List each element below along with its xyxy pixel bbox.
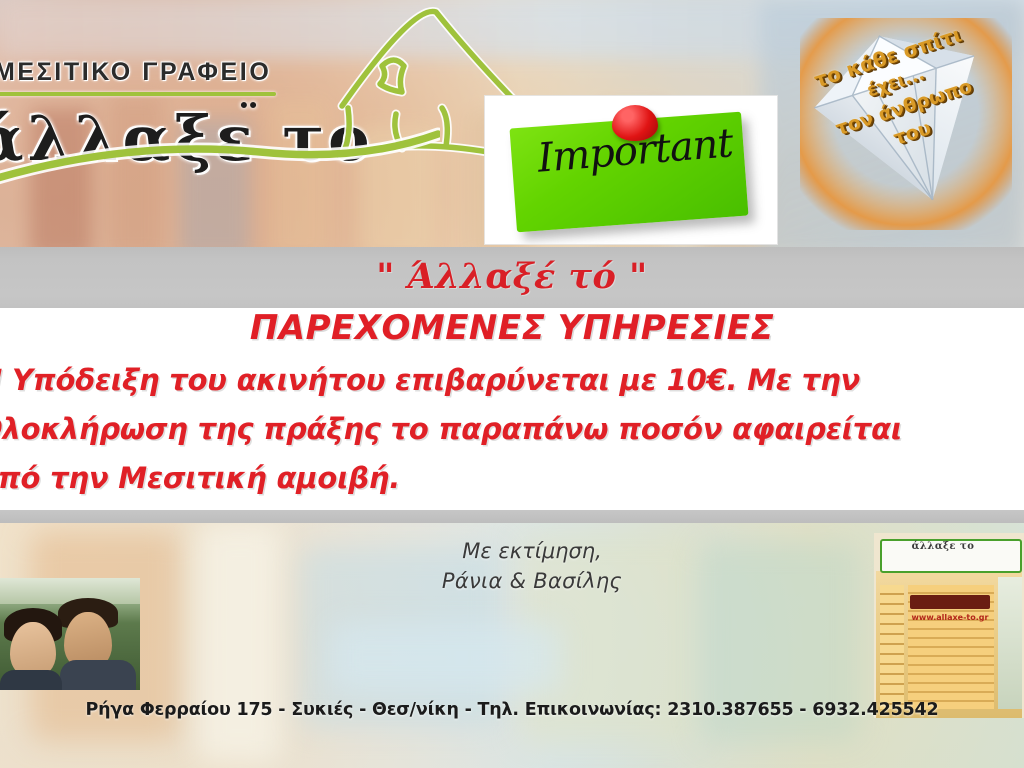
body-line-3: από την Μεσιτική αμοιβή. [0,454,1018,503]
diamond-icon [800,18,1012,230]
green-swoosh-icon [0,118,440,208]
bottom-gray-strip [0,510,1024,523]
services-body-text: Η Υπόδειξη του ακινήτου επιβαρύνεται με … [0,356,1018,503]
body-line-1: Η Υπόδειξη του ακινήτου επιβαρύνεται με … [0,356,1018,405]
brand-quote-title: " Άλλαξέ τό " [0,256,1024,297]
signature-line-2: Ράνια & Βασίλης [382,566,682,596]
logo-kicker-text: ΜΕΣΙΤΙΚΟ ΓΡΑΦΕΙΟ [0,58,271,87]
red-pushpin-icon [612,105,658,141]
shop-sign-text: άλλαξε το [874,541,1012,552]
couple-photo [0,578,140,690]
storefront-photo: www.allaxe-to.gr άλλαξε το [874,533,1024,718]
logo-underline [0,92,276,96]
shop-website-url: www.allaxe-to.gr [902,613,998,622]
body-line-2: Ολοκλήρωση της πράξης το παραπάνω ποσόν … [0,405,1018,454]
contact-info: Ρήγα Φερραίου 175 - Συκιές - Θεσ/νίκη - … [0,700,1024,720]
flyer-page: ΜΕΣΙΤΙΚΟ ΓΡΑΦΕΙΟ " άλλαξε το ¨ Important [0,0,1024,768]
signature-line-1: Με εκτίμηση, [382,536,682,566]
services-heading: ΠΑΡΕΧΟΜΕΝΕΣ ΥΠΗΡΕΣΙΕΣ [0,308,1024,348]
signature-block: Με εκτίμηση, Ράνια & Βασίλης [382,536,682,596]
